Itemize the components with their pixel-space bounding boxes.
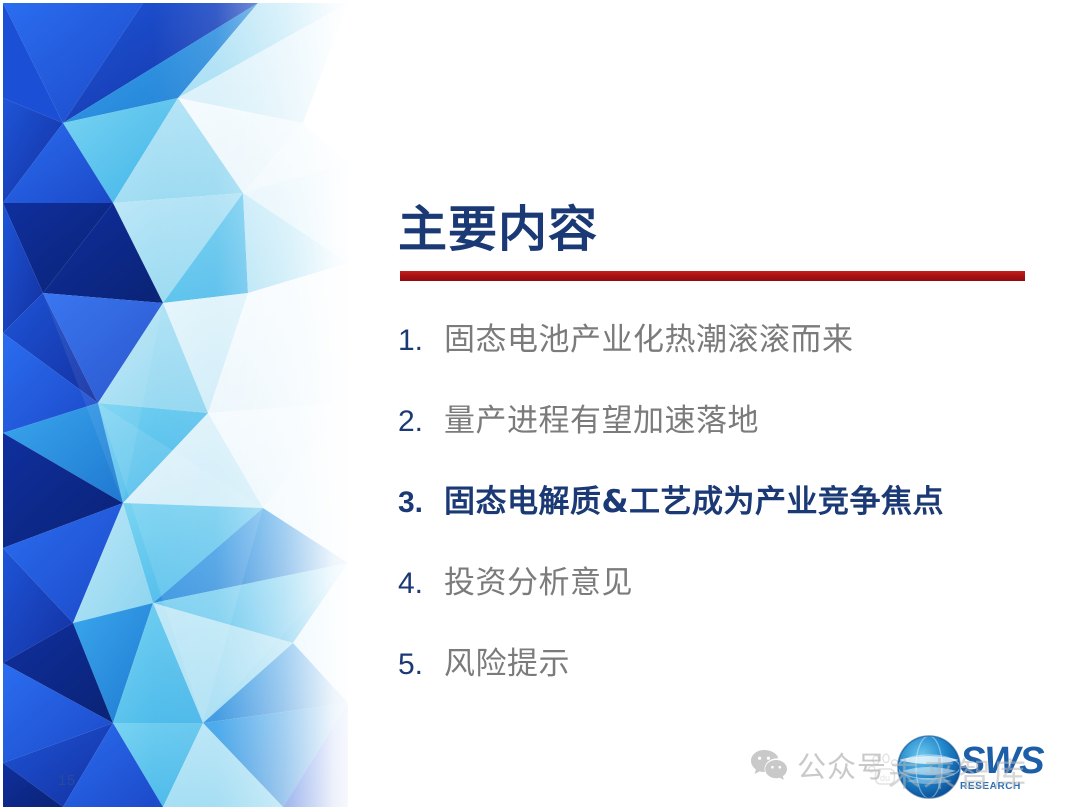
slide-canvas: 15 主要内容 1. 固态电池产业化热潮滚滚而来 2. 量产进程有望加速落地 3…: [0, 0, 1080, 810]
table-of-contents: 1. 固态电池产业化热潮滚滚而来 2. 量产进程有望加速落地 3. 固态电解质&…: [398, 300, 1058, 705]
toc-item-number: 1.: [398, 300, 444, 381]
source-watermark: 未来智库: [888, 748, 1028, 796]
footer-watermarks: 公众号 du: [740, 726, 1080, 810]
toc-item-label: 固态电解质&工艺成为产业竞争焦点: [444, 462, 944, 543]
title-underline-rule: [400, 271, 1025, 281]
toc-item-number: 5.: [398, 624, 444, 705]
wechat-account-mark: 公众号: [750, 744, 887, 786]
toc-item-label: 固态电池产业化热潮滚滚而来: [444, 300, 854, 381]
toc-item-number: 2.: [398, 381, 444, 462]
toc-item-4[interactable]: 4. 投资分析意见: [398, 543, 1058, 624]
toc-item-number: 3.: [398, 462, 444, 543]
toc-item-label: 风险提示: [444, 624, 570, 705]
toc-item-label: 量产进程有望加速落地: [444, 381, 759, 462]
decorative-polygon-panel: [3, 3, 348, 807]
page-number: 15: [58, 772, 76, 789]
wechat-icon: [750, 748, 788, 782]
page-title: 主要内容: [398, 205, 598, 254]
toc-item-label: 投资分析意见: [444, 543, 633, 624]
toc-item-number: 4.: [398, 543, 444, 624]
toc-item-1[interactable]: 1. 固态电池产业化热潮滚滚而来: [398, 300, 1058, 381]
toc-item-5[interactable]: 5. 风险提示: [398, 624, 1058, 705]
toc-item-2[interactable]: 2. 量产进程有望加速落地: [398, 381, 1058, 462]
slide-content: 主要内容 1. 固态电池产业化热潮滚滚而来 2. 量产进程有望加速落地 3. 固…: [398, 0, 1058, 810]
toc-item-3-active[interactable]: 3. 固态电解质&工艺成为产业竞争焦点: [398, 462, 1058, 543]
polygon-artwork: [3, 3, 348, 807]
